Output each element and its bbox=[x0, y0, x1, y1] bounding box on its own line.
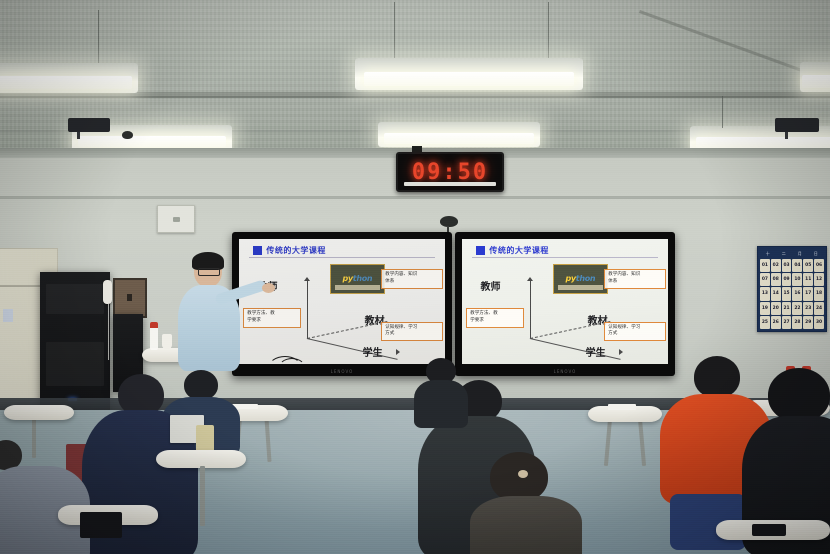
calendar-day: 26 bbox=[771, 316, 781, 329]
display-right[interactable]: 传统的大学课程 python 教师 教材 学生 教学方法、教 学要求 教学内容、… bbox=[455, 232, 675, 376]
smartphone[interactable] bbox=[752, 524, 786, 536]
audience-student-3 bbox=[0, 440, 90, 554]
calendar-day: 10 bbox=[792, 273, 802, 286]
calendar-day: 11 bbox=[803, 273, 813, 286]
slide-callout-teaching-method: 教学方法、教 学要求 bbox=[243, 308, 300, 328]
slide-title: 传统的大学课程 bbox=[266, 245, 326, 256]
slide-callout-cognitive-rule: 认知规律、学习 方式 bbox=[381, 322, 443, 342]
calendar-day: 04 bbox=[792, 259, 802, 272]
audience-student-8 bbox=[414, 358, 468, 420]
calendar-day: 19 bbox=[760, 302, 770, 315]
audience-student-5 bbox=[470, 452, 582, 554]
light-tube bbox=[802, 75, 830, 88]
calendar-day: 13 bbox=[760, 287, 770, 300]
light-wire bbox=[548, 2, 549, 60]
calendar-day: 01 bbox=[760, 259, 770, 272]
clock-bottom-strip bbox=[404, 182, 496, 186]
presenter bbox=[176, 255, 246, 370]
slide-python-image: python bbox=[330, 264, 386, 294]
calendar-day: 14 bbox=[771, 287, 781, 300]
calendar-day: 02 bbox=[771, 259, 781, 272]
ceiling-projector-right bbox=[775, 118, 819, 132]
calendar-header: 十 二 月 日 bbox=[760, 249, 824, 259]
display-right-screen: 传统的大学课程 python 教师 教材 学生 教学方法、教 学要求 教学内容、… bbox=[462, 239, 668, 364]
student-body bbox=[414, 380, 468, 428]
display-left[interactable]: 传统的大学课程 python 教师 教材 学生 教学方法、教 学要求 教学内容、… bbox=[232, 232, 452, 376]
slide-callout-cognitive-rule: 认知规律、学习 方式 bbox=[604, 322, 666, 342]
bottle-cap bbox=[150, 322, 158, 328]
display-right-brand: LENOVO bbox=[455, 369, 675, 374]
calendar-day: 07 bbox=[760, 273, 770, 286]
ceiling-seam bbox=[0, 96, 830, 98]
calendar-header-cell: 十 bbox=[766, 251, 771, 257]
calendar-day: 16 bbox=[792, 287, 802, 300]
calendar-header-cell: 二 bbox=[782, 251, 787, 257]
slide-solid-arrow-icon bbox=[619, 349, 623, 355]
rack-panel bbox=[46, 284, 104, 314]
python-image-caption-bar bbox=[335, 285, 380, 290]
slide-axis-arrow-icon bbox=[527, 277, 533, 281]
student-body bbox=[470, 496, 582, 554]
hair-clip bbox=[518, 470, 528, 478]
wall-distribution-box bbox=[113, 278, 147, 318]
calendar-day: 29 bbox=[803, 316, 813, 329]
slide-axis-arrow-icon bbox=[304, 277, 310, 281]
wall-box-indicator-icon bbox=[173, 217, 180, 222]
student-desk bbox=[4, 405, 74, 420]
clock-time: 09:50 bbox=[412, 160, 488, 185]
light-wire bbox=[722, 96, 723, 128]
ceiling-projector-left bbox=[68, 118, 110, 132]
table-leg bbox=[200, 466, 205, 526]
light-tube bbox=[0, 76, 132, 89]
light-wire bbox=[98, 10, 99, 65]
tablet-device[interactable] bbox=[80, 512, 122, 538]
slide-title: 传统的大学课程 bbox=[489, 245, 549, 256]
wall-calendar: 十 二 月 日 01 02 03 04 05 06 07 08 09 10 11… bbox=[757, 246, 827, 332]
calendar-day: 17 bbox=[803, 287, 813, 300]
calendar-day: 25 bbox=[760, 316, 770, 329]
water-bottle bbox=[150, 322, 158, 350]
light-tube bbox=[78, 136, 225, 147]
digital-clock: 09:50 bbox=[396, 152, 504, 192]
display-cable bbox=[278, 358, 306, 380]
calendar-day: 28 bbox=[792, 316, 802, 329]
paper-cup bbox=[162, 334, 172, 349]
calendar-day: 15 bbox=[782, 287, 792, 300]
slide-callout-teaching-method: 教学方法、教 学要求 bbox=[466, 308, 523, 328]
slide-node-student: 学生 bbox=[363, 344, 383, 359]
ceiling-light-2 bbox=[355, 58, 583, 90]
presenter-glasses-icon bbox=[198, 268, 220, 276]
ceiling-light-1 bbox=[0, 63, 138, 93]
slide-node-student: 学生 bbox=[586, 344, 606, 359]
phone-cord bbox=[108, 304, 109, 360]
slide-axis-vertical bbox=[307, 280, 308, 339]
calendar-header-cell: 月 bbox=[798, 251, 803, 257]
calendar-header-cell: 日 bbox=[814, 251, 819, 257]
calendar-day: 06 bbox=[814, 259, 824, 272]
slide-axis-vertical bbox=[530, 280, 531, 339]
slide-callout-teaching-content: 教学内容、知识 体系 bbox=[604, 269, 666, 289]
slide-bullet-icon bbox=[476, 246, 485, 255]
classroom-photo: 09:50 传统的大学课程 python 教师 bbox=[0, 0, 830, 554]
calendar-day: 12 bbox=[814, 273, 824, 286]
slide-title-row: 传统的大学课程 bbox=[476, 245, 549, 256]
calendar-day: 18 bbox=[814, 287, 824, 300]
calendar-day: 27 bbox=[782, 316, 792, 329]
calendar-day: 22 bbox=[792, 302, 802, 315]
calendar-day: 21 bbox=[782, 302, 792, 315]
wall-control-box bbox=[157, 205, 195, 233]
light-wire bbox=[394, 2, 395, 60]
desk-paper bbox=[608, 404, 636, 410]
calendar-day: 20 bbox=[771, 302, 781, 315]
slide-python-image: python bbox=[553, 264, 609, 294]
ceiling-light-3 bbox=[800, 62, 830, 92]
calendar-day: 23 bbox=[803, 302, 813, 315]
slide-title-row: 传统的大学课程 bbox=[253, 245, 326, 256]
wall-seam bbox=[0, 196, 830, 199]
calendar-day: 03 bbox=[782, 259, 792, 272]
cabinet-label bbox=[3, 309, 13, 322]
distribution-box-port bbox=[127, 294, 132, 301]
light-tube bbox=[364, 72, 574, 85]
front-camera-icon bbox=[440, 216, 458, 227]
wall-phone-handset[interactable] bbox=[103, 280, 112, 304]
slide-bullet-icon bbox=[253, 246, 262, 255]
presenter-hand bbox=[262, 283, 275, 293]
student-head bbox=[768, 368, 830, 422]
slide-title-underline bbox=[472, 257, 657, 258]
display-left-screen: 传统的大学课程 python 教师 教材 学生 教学方法、教 学要求 教学内容、… bbox=[239, 239, 445, 364]
calendar-grid: 01 02 03 04 05 06 07 08 09 10 11 12 13 1… bbox=[760, 259, 824, 329]
python-image-caption-bar bbox=[558, 285, 603, 290]
slide-solid-arrow-icon bbox=[396, 349, 400, 355]
slide-node-teacher: 教师 bbox=[481, 278, 501, 293]
slide-title-underline bbox=[249, 257, 434, 258]
python-logo: python bbox=[342, 274, 372, 283]
calendar-day: 05 bbox=[803, 259, 813, 272]
slide-callout-teaching-content: 教学内容、知识 体系 bbox=[381, 269, 443, 289]
ceiling-light-5 bbox=[378, 122, 540, 147]
light-tube bbox=[696, 137, 830, 148]
calendar-day: 08 bbox=[771, 273, 781, 286]
ceiling-sensor-icon bbox=[122, 131, 133, 139]
light-tube bbox=[384, 133, 533, 144]
calendar-day: 30 bbox=[814, 316, 824, 329]
student-head bbox=[694, 356, 740, 398]
python-logo: python bbox=[565, 274, 595, 283]
calendar-day: 09 bbox=[782, 273, 792, 286]
calendar-day: 24 bbox=[814, 302, 824, 315]
